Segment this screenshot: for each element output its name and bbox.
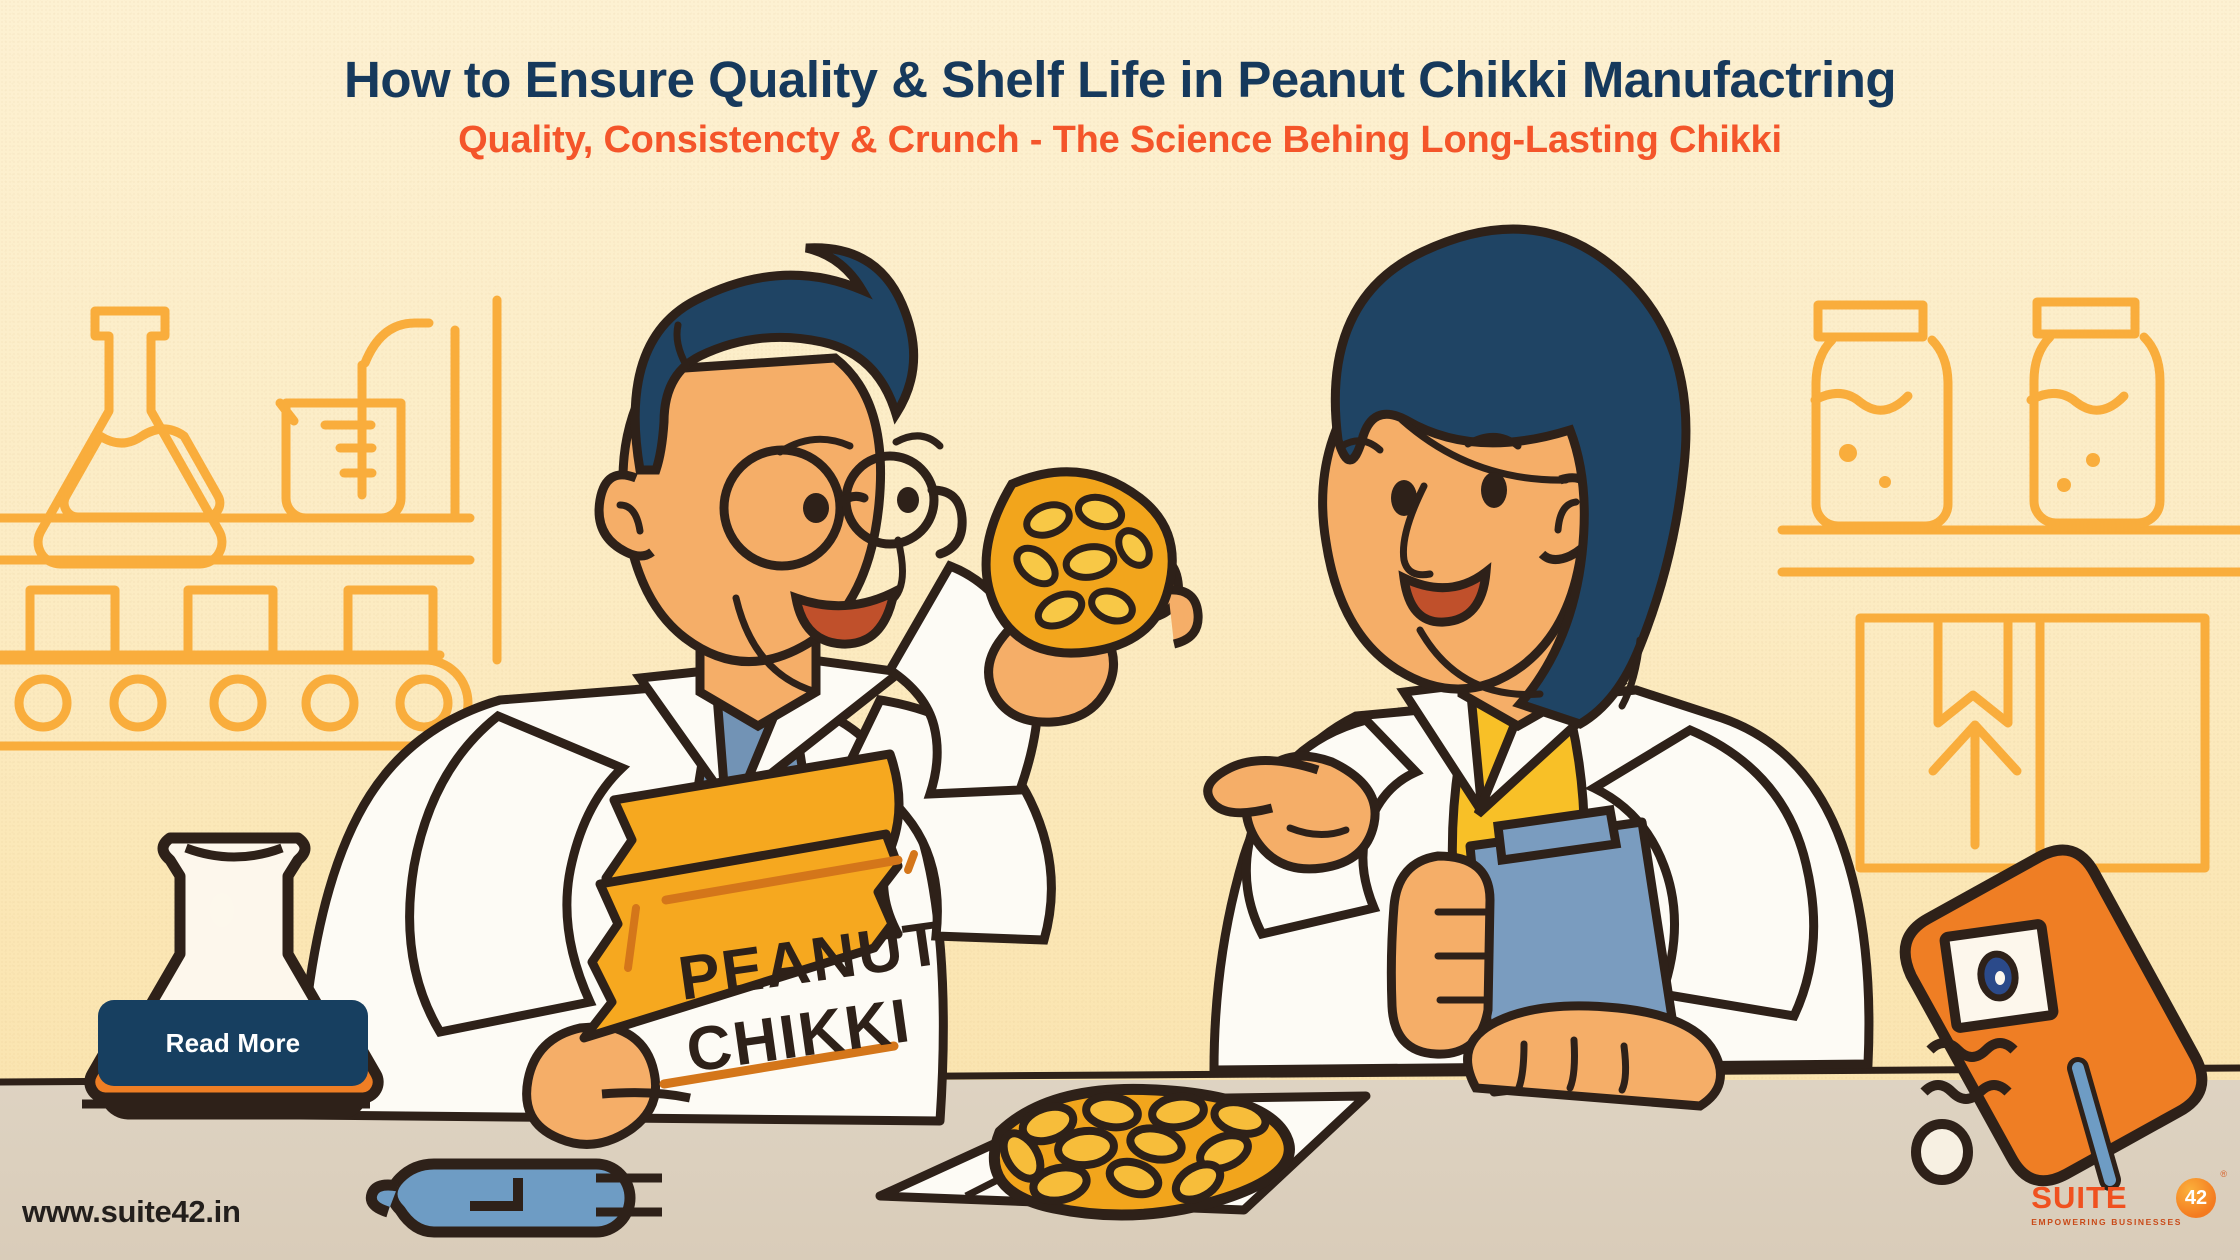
logo-badge-number: 42: [2185, 1187, 2207, 1210]
digital-thermometer: [371, 1164, 662, 1232]
headings-block: How to Ensure Quality & Shelf Life in Pe…: [0, 52, 2240, 162]
logo-badge-42: 42 ®: [2176, 1178, 2216, 1218]
logo-wordmark: SUITE: [2031, 1182, 2127, 1213]
page-subtitle: Quality, Consistencty & Crunch - The Sci…: [0, 120, 2240, 162]
read-more-button[interactable]: Read More: [98, 1000, 368, 1086]
chikki-bar: [994, 1089, 1289, 1215]
resting-hand: [1468, 1006, 1721, 1106]
pointing-hand: [1208, 756, 1375, 869]
website-url[interactable]: www.suite42.in: [22, 1194, 241, 1230]
suite42-logo[interactable]: SUITE EMPOWERING BUSINESSES 42 ®: [2031, 1182, 2216, 1227]
moisture-meter: [1894, 835, 2213, 1196]
clipboard-hand: [1391, 856, 1490, 1054]
chikki-piece: [986, 472, 1172, 653]
chikki-plate: [880, 1089, 1366, 1215]
blog-banner: .ink{stroke:#2e2119;stroke-width:9;strok…: [0, 0, 2240, 1260]
female-scientist: [1208, 229, 1869, 1106]
registered-trademark-icon: ®: [2220, 1169, 2227, 1179]
page-title: How to Ensure Quality & Shelf Life in Pe…: [0, 52, 2240, 107]
logo-tagline: EMPOWERING BUSINESSES: [2031, 1217, 2182, 1227]
